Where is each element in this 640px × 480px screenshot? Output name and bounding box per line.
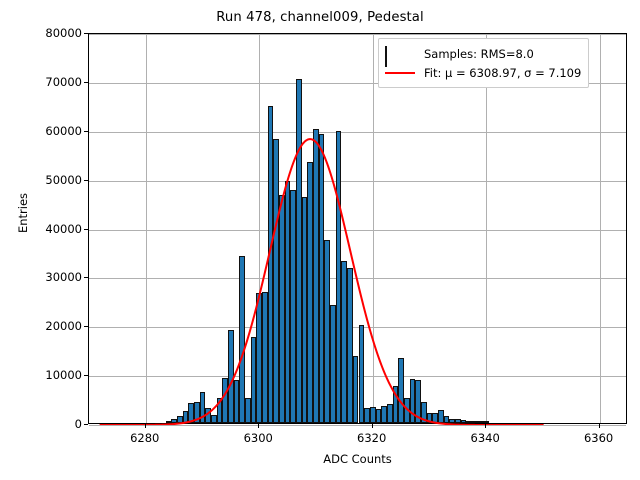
x-tick-mark <box>372 424 373 428</box>
y-tick-mark <box>84 326 88 327</box>
y-tick-label: 50000 <box>24 173 82 187</box>
y-tick-label: 30000 <box>24 270 82 284</box>
x-tick-label: 6340 <box>471 431 500 445</box>
y-tick-label: 80000 <box>24 26 82 40</box>
gaussian-fit-curve <box>89 34 628 425</box>
legend-label-fit: Fit: μ = 6308.97, σ = 7.109 <box>424 66 581 80</box>
y-axis-label: Entries <box>16 153 30 273</box>
x-tick-label: 6280 <box>130 431 159 445</box>
y-tick-label: 60000 <box>24 124 82 138</box>
legend-item-fit: Fit: μ = 6308.97, σ = 7.109 <box>385 63 581 82</box>
legend-item-samples: Samples: RMS=8.0 <box>385 44 581 63</box>
y-tick-mark <box>84 82 88 83</box>
gridline-horizontal <box>89 425 626 426</box>
y-tick-mark <box>84 375 88 376</box>
y-tick-label: 0 <box>24 417 82 431</box>
legend-patch-icon <box>385 47 415 61</box>
x-tick-mark <box>485 424 486 428</box>
y-tick-mark <box>84 180 88 181</box>
y-tick-label: 20000 <box>24 319 82 333</box>
x-tick-mark <box>145 424 146 428</box>
x-axis-label: ADC Counts <box>88 452 627 466</box>
y-tick-mark <box>84 229 88 230</box>
figure-canvas: Run 478, channel009, Pedestal 6280630063… <box>0 0 640 480</box>
x-tick-mark <box>258 424 259 428</box>
y-tick-label: 70000 <box>24 75 82 89</box>
x-tick-label: 6300 <box>244 431 273 445</box>
x-tick-mark <box>599 424 600 428</box>
chart-legend: Samples: RMS=8.0 Fit: μ = 6308.97, σ = 7… <box>378 38 589 88</box>
y-tick-mark <box>84 277 88 278</box>
legend-label-samples: Samples: RMS=8.0 <box>424 47 534 61</box>
y-tick-mark <box>84 424 88 425</box>
x-tick-label: 6360 <box>584 431 613 445</box>
y-tick-label: 40000 <box>24 222 82 236</box>
plot-axes <box>88 33 627 424</box>
y-tick-mark <box>84 131 88 132</box>
legend-line-icon <box>385 66 415 80</box>
page-title: Run 478, channel009, Pedestal <box>0 10 640 25</box>
x-tick-label: 6320 <box>357 431 386 445</box>
y-tick-mark <box>84 33 88 34</box>
y-tick-label: 10000 <box>24 368 82 382</box>
